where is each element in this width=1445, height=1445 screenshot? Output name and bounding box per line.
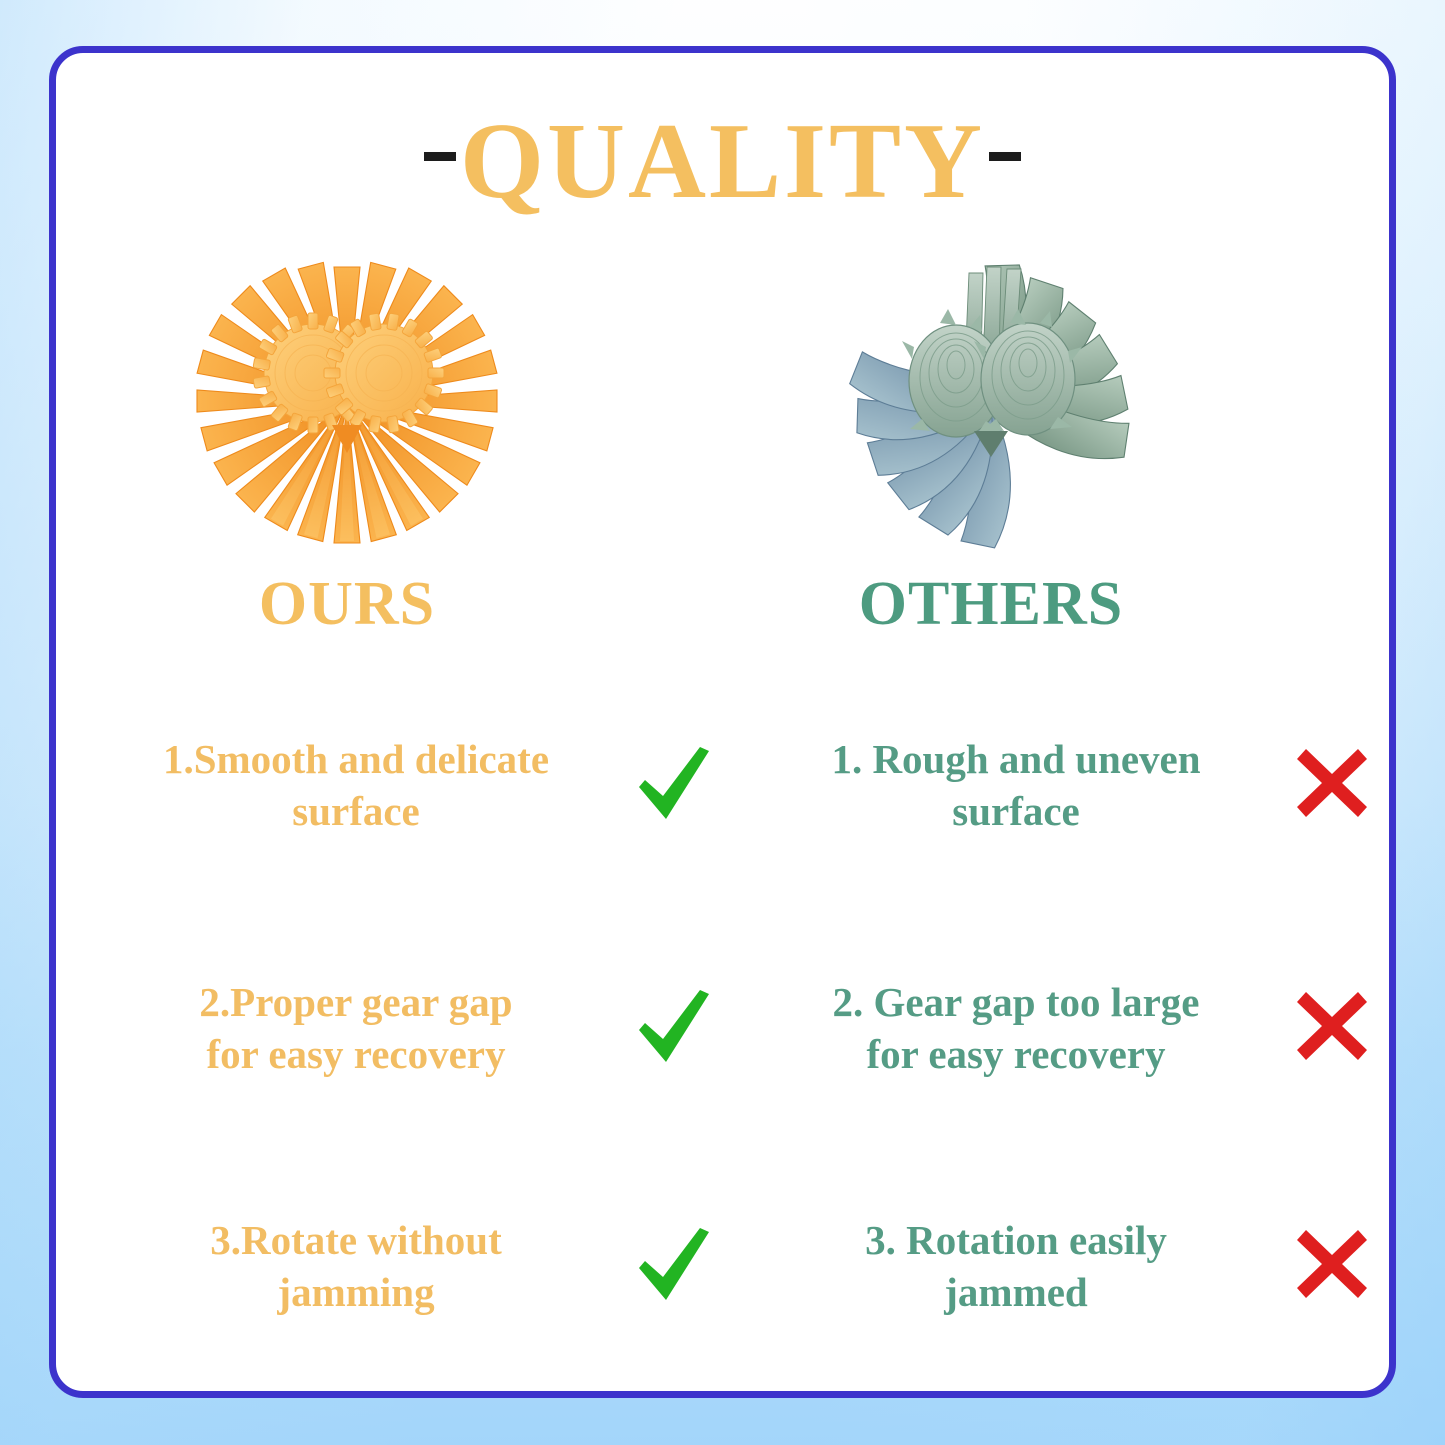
feature-line-1: 1.Smooth and delicate <box>96 733 616 785</box>
feature-text-others: 1. Rough and uneven surface <box>756 733 1276 838</box>
comparison-cell-ours: 2.Proper gear gap for easy recovery <box>96 976 736 1106</box>
feature-line-2: jamming <box>96 1266 616 1318</box>
cross-icon <box>1282 733 1382 833</box>
feature-line-2: surface <box>96 785 616 837</box>
feature-text-ours: 1.Smooth and delicate surface <box>96 733 616 838</box>
feature-line-1: 3.Rotate without <box>96 1214 616 1266</box>
page-title: QUALITY <box>56 108 1389 216</box>
product-image-ours <box>132 253 562 553</box>
check-icon <box>622 733 722 833</box>
title-right-dash-icon <box>989 152 1021 161</box>
feature-line-2: for easy recovery <box>756 1028 1276 1080</box>
comparison-cell-others: 2. Gear gap too large for easy recovery <box>756 976 1396 1106</box>
comparison-card: QUALITY <box>49 46 1396 1398</box>
infographic-page: QUALITY <box>0 0 1445 1445</box>
title-left-dash-icon <box>424 152 456 161</box>
feature-line-2: for easy recovery <box>96 1028 616 1080</box>
check-icon <box>622 976 722 1076</box>
feature-line-1: 1. Rough and uneven <box>756 733 1276 785</box>
comparison-cell-ours: 1.Smooth and delicate surface <box>96 733 736 863</box>
feature-line-1: 2.Proper gear gap <box>96 976 616 1028</box>
feature-line-2: jammed <box>756 1266 1276 1318</box>
column-heading-ours: OURS <box>132 573 562 635</box>
comparison-row: 1.Smooth and delicate surface 1. Rough a… <box>56 673 1389 916</box>
product-image-others <box>776 253 1206 553</box>
comparison-cell-ours: 3.Rotate without jamming <box>96 1214 736 1344</box>
feature-text-others: 3. Rotation easily jammed <box>756 1214 1276 1319</box>
page-title-text: QUALITY <box>460 108 985 216</box>
comparison-cell-others: 3. Rotation easily jammed <box>756 1214 1396 1344</box>
cross-icon <box>1282 976 1382 1076</box>
cross-icon <box>1282 1214 1382 1314</box>
check-icon <box>622 1214 722 1314</box>
feature-line-2: surface <box>756 785 1276 837</box>
column-heading-others: OTHERS <box>776 573 1206 635</box>
comparison-row: 2.Proper gear gap for easy recovery 2. G… <box>56 916 1389 1159</box>
comparison-rows: 1.Smooth and delicate surface 1. Rough a… <box>56 673 1389 1398</box>
comparison-row: 3.Rotate without jamming 3. Rotation eas… <box>56 1159 1389 1398</box>
feature-text-others: 2. Gear gap too large for easy recovery <box>756 976 1276 1081</box>
product-images <box>56 253 1389 563</box>
comparison-cell-others: 1. Rough and uneven surface <box>756 733 1396 863</box>
feature-text-ours: 2.Proper gear gap for easy recovery <box>96 976 616 1081</box>
feature-line-1: 2. Gear gap too large <box>756 976 1276 1028</box>
feature-text-ours: 3.Rotate without jamming <box>96 1214 616 1319</box>
feature-line-1: 3. Rotation easily <box>756 1214 1276 1266</box>
